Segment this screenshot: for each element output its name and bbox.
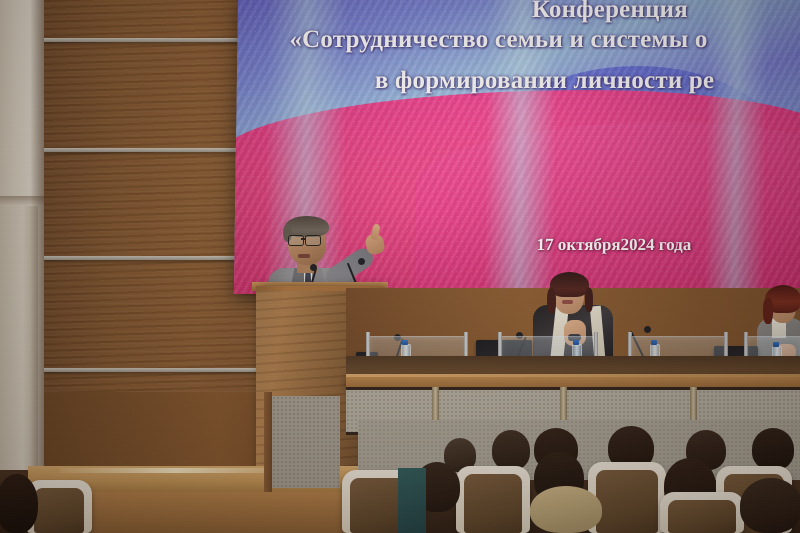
auditorium-seat-back: [464, 474, 522, 533]
auditorium-seat-back: [668, 500, 736, 533]
speaker-glasses-bridge: [301, 238, 306, 240]
presidium-table-edge: [346, 374, 800, 377]
stage-floor-highlight: [60, 468, 290, 473]
presidium-table-surface: [346, 356, 800, 376]
audience-head-blonde: [530, 486, 602, 533]
water-bottle-cap: [651, 340, 657, 345]
acoustic-panel-frame: [264, 392, 272, 492]
center-woman-hair: [550, 272, 589, 297]
conference-title-line-3: в формировании личности ре: [375, 67, 715, 95]
podium-microphone-head: [358, 258, 365, 265]
speaker-mouth: [298, 254, 310, 258]
right-woman-hair-side: [763, 298, 773, 324]
auditorium-seat-back: [596, 470, 658, 533]
audience-head: [752, 428, 794, 470]
pillar-shadow: [30, 0, 44, 533]
speaker-glasses-left-lens: [288, 235, 304, 246]
water-bottle-cap: [773, 342, 779, 347]
auditorium-seat-back: [34, 488, 84, 533]
audience-shoulder: [398, 468, 426, 533]
conference-title-line-2: «Сотрудничество семьи и системы о: [289, 26, 708, 54]
conference-date: 17 октября2024 года: [536, 235, 691, 255]
center-woman-hair-side: [547, 288, 556, 314]
audience-head: [492, 430, 530, 470]
water-bottle-cap: [573, 340, 579, 345]
water-bottle-cap: [402, 340, 408, 345]
conference-photo: Конференция «Сотрудничество семьи и сист…: [0, 0, 800, 533]
center-woman-hair-side: [585, 288, 593, 312]
podium-microphone-head: [310, 264, 317, 271]
table-microphone-head: [644, 326, 651, 333]
audience-head: [0, 474, 38, 533]
conference-title-line-1: Конференция: [532, 0, 689, 24]
speaker-glasses-right-lens: [305, 235, 321, 246]
audience-head: [740, 478, 800, 533]
center-woman-mouth: [562, 300, 573, 304]
stage-acoustic-panel: [268, 396, 340, 488]
